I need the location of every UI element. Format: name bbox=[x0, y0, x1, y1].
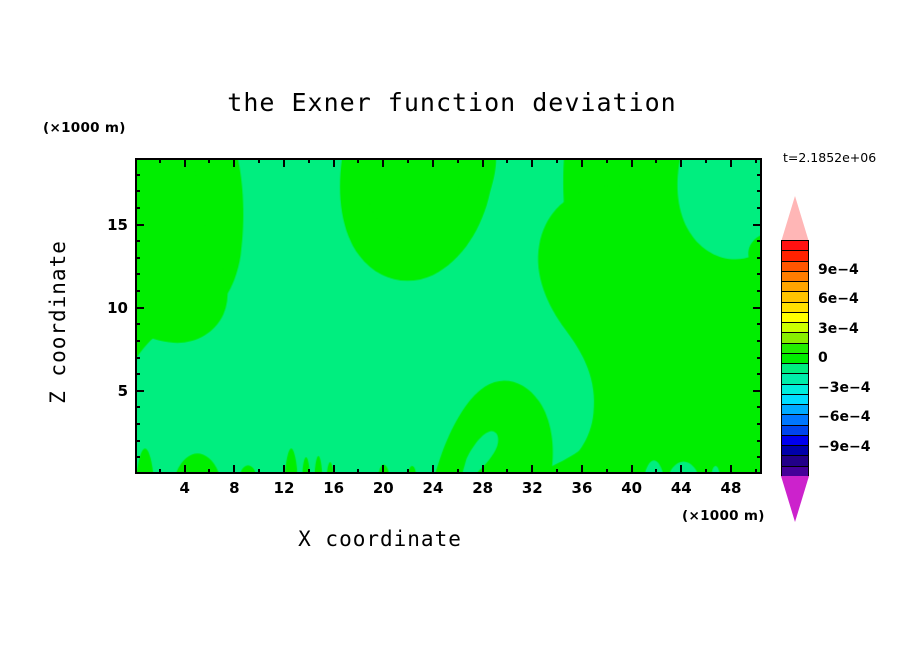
x-tick-label: 12 bbox=[274, 479, 295, 497]
colorbar-bands bbox=[781, 240, 809, 476]
y-tick bbox=[135, 257, 140, 259]
x-tick-top bbox=[531, 158, 533, 167]
y-tick-label: 10 bbox=[94, 299, 128, 317]
colorbar-band bbox=[782, 436, 808, 446]
y-tick-right bbox=[757, 456, 762, 458]
colorbar-under-arrow-icon bbox=[781, 476, 809, 522]
x-tick-label: 36 bbox=[572, 479, 593, 497]
y-tick-right bbox=[757, 273, 762, 275]
x-tick-top bbox=[357, 158, 359, 163]
x-tick bbox=[755, 469, 757, 474]
colorbar-band bbox=[782, 313, 808, 323]
x-tick bbox=[457, 469, 459, 474]
y-tick-right bbox=[757, 423, 762, 425]
colorbar-band bbox=[782, 241, 808, 251]
x-tick-label: 24 bbox=[423, 479, 444, 497]
x-tick bbox=[730, 465, 732, 474]
x-tick bbox=[184, 465, 186, 474]
y-tick-right bbox=[757, 323, 762, 325]
x-tick bbox=[655, 469, 657, 474]
colorbar-tick-label: −9e−4 bbox=[818, 439, 870, 455]
y-tick-right bbox=[757, 207, 762, 209]
y-tick bbox=[135, 307, 144, 309]
y-tick bbox=[135, 323, 140, 325]
x-tick-top bbox=[631, 158, 633, 167]
x-tick-label: 28 bbox=[472, 479, 493, 497]
y-tick-right bbox=[757, 357, 762, 359]
colorbar-band bbox=[782, 292, 808, 302]
colorbar-tick-label: 0 bbox=[818, 350, 828, 366]
colorbar-band bbox=[782, 426, 808, 436]
x-tick-top bbox=[606, 158, 608, 163]
colorbar-band bbox=[782, 395, 808, 405]
x-tick-top bbox=[457, 158, 459, 163]
x-tick-top bbox=[680, 158, 682, 167]
x-tick bbox=[308, 469, 310, 474]
colorbar-band bbox=[782, 354, 808, 364]
colorbar-over-arrow-icon bbox=[781, 196, 809, 242]
x-tick-top bbox=[482, 158, 484, 167]
colorbar-tick-label: 3e−4 bbox=[818, 321, 859, 337]
x-tick bbox=[432, 465, 434, 474]
contour-field-canvas bbox=[137, 160, 760, 472]
y-tick bbox=[135, 240, 140, 242]
x-tick-top bbox=[581, 158, 583, 167]
y-tick bbox=[135, 440, 140, 442]
x-tick bbox=[680, 465, 682, 474]
y-tick bbox=[135, 190, 140, 192]
colorbar-band bbox=[782, 344, 808, 354]
colorbar-band bbox=[782, 467, 808, 477]
x-axis-units-label: (×1000 m) bbox=[682, 508, 765, 524]
x-tick bbox=[606, 469, 608, 474]
y-tick-right bbox=[757, 406, 762, 408]
colorbar-band bbox=[782, 323, 808, 333]
y-tick-label: 15 bbox=[94, 216, 128, 234]
x-tick-top bbox=[755, 158, 757, 163]
colorbar-band bbox=[782, 385, 808, 395]
x-tick-top bbox=[283, 158, 285, 167]
y-tick-right bbox=[753, 224, 762, 226]
x-tick-top bbox=[556, 158, 558, 163]
x-tick-top bbox=[382, 158, 384, 167]
x-tick bbox=[233, 465, 235, 474]
x-tick-top bbox=[432, 158, 434, 167]
x-tick bbox=[705, 469, 707, 474]
x-tick-top bbox=[730, 158, 732, 167]
y-tick-right bbox=[753, 307, 762, 309]
x-tick-top bbox=[258, 158, 260, 163]
x-tick-top bbox=[159, 158, 161, 163]
x-tick-top bbox=[705, 158, 707, 163]
y-tick bbox=[135, 390, 144, 392]
y-tick-right bbox=[757, 174, 762, 176]
colorbar-band bbox=[782, 272, 808, 282]
x-tick bbox=[159, 469, 161, 474]
x-tick bbox=[258, 469, 260, 474]
y-tick bbox=[135, 406, 140, 408]
time-stamp-annotation: t=2.1852e+06 bbox=[783, 150, 876, 165]
x-tick bbox=[631, 465, 633, 474]
plot-page: the Exner function deviation (×1000 m) t… bbox=[0, 0, 904, 654]
colorbar-band bbox=[782, 262, 808, 272]
y-tick bbox=[135, 456, 140, 458]
y-tick-right bbox=[757, 257, 762, 259]
colorbar-band bbox=[782, 446, 808, 456]
x-tick bbox=[407, 469, 409, 474]
colorbar-band bbox=[782, 456, 808, 466]
colorbar-band bbox=[782, 405, 808, 415]
x-tick bbox=[382, 465, 384, 474]
colorbar-band bbox=[782, 374, 808, 384]
y-tick-label: 5 bbox=[94, 382, 128, 400]
x-axis-title: X coordinate bbox=[0, 527, 760, 551]
y-axis-title: Z coordinate bbox=[46, 202, 70, 442]
x-tick bbox=[208, 469, 210, 474]
x-tick-label: 8 bbox=[229, 479, 239, 497]
colorbar-band bbox=[782, 415, 808, 425]
x-tick-top bbox=[208, 158, 210, 163]
x-tick-top bbox=[308, 158, 310, 163]
x-tick-top bbox=[506, 158, 508, 163]
y-tick-right bbox=[753, 390, 762, 392]
x-tick bbox=[283, 465, 285, 474]
x-tick-top bbox=[655, 158, 657, 163]
y-tick-right bbox=[757, 440, 762, 442]
colorbar-tick-label: 9e−4 bbox=[818, 262, 859, 278]
x-tick-label: 40 bbox=[621, 479, 642, 497]
x-tick-label: 48 bbox=[721, 479, 742, 497]
x-tick bbox=[333, 465, 335, 474]
y-tick bbox=[135, 224, 144, 226]
colorbar-band bbox=[782, 303, 808, 313]
x-tick-label: 32 bbox=[522, 479, 543, 497]
colorbar[interactable] bbox=[781, 196, 809, 520]
x-tick bbox=[506, 469, 508, 474]
colorbar-tick-label: −6e−4 bbox=[818, 409, 870, 425]
y-axis-units-label: (×1000 m) bbox=[43, 120, 126, 136]
x-tick-top bbox=[184, 158, 186, 167]
y-tick-right bbox=[757, 190, 762, 192]
y-tick-right bbox=[757, 290, 762, 292]
x-tick-label: 44 bbox=[671, 479, 692, 497]
colorbar-band bbox=[782, 333, 808, 343]
y-tick bbox=[135, 340, 140, 342]
y-tick bbox=[135, 207, 140, 209]
x-tick-top bbox=[233, 158, 235, 167]
x-tick bbox=[556, 469, 558, 474]
colorbar-band bbox=[782, 364, 808, 374]
x-tick-top bbox=[407, 158, 409, 163]
colorbar-tick-label: 6e−4 bbox=[818, 291, 859, 307]
x-tick bbox=[357, 469, 359, 474]
y-tick bbox=[135, 357, 140, 359]
y-tick bbox=[135, 174, 140, 176]
x-tick bbox=[581, 465, 583, 474]
y-tick bbox=[135, 373, 140, 375]
y-tick bbox=[135, 423, 140, 425]
x-tick bbox=[531, 465, 533, 474]
x-tick-label: 20 bbox=[373, 479, 394, 497]
x-tick-top bbox=[333, 158, 335, 167]
y-tick-right bbox=[757, 340, 762, 342]
x-tick-label: 16 bbox=[323, 479, 344, 497]
contour-plot-area[interactable] bbox=[135, 158, 762, 474]
y-tick bbox=[135, 290, 140, 292]
x-tick bbox=[482, 465, 484, 474]
page-title: the Exner function deviation bbox=[0, 88, 904, 117]
y-tick bbox=[135, 273, 140, 275]
colorbar-band bbox=[782, 251, 808, 261]
colorbar-tick-label: −3e−4 bbox=[818, 380, 870, 396]
x-tick-label: 4 bbox=[179, 479, 189, 497]
y-tick-right bbox=[757, 240, 762, 242]
y-tick-right bbox=[757, 373, 762, 375]
colorbar-band bbox=[782, 282, 808, 292]
